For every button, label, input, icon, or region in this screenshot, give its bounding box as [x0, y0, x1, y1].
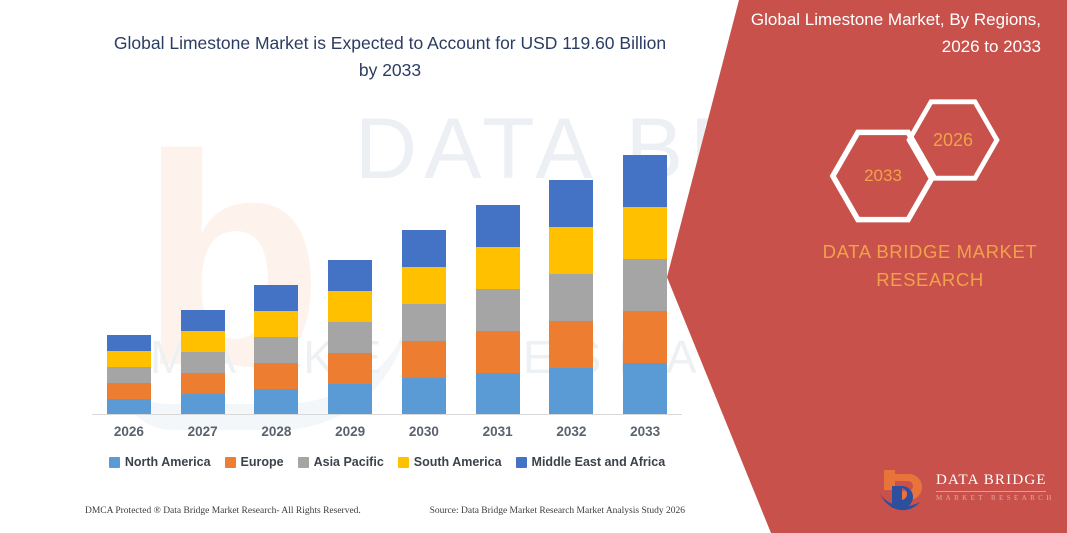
x-axis-label-2026: 2026: [94, 424, 164, 439]
bar-segment: [549, 274, 593, 321]
bar-segment: [181, 352, 225, 373]
x-axis-label-2030: 2030: [389, 424, 459, 439]
bar-segment: [402, 304, 446, 341]
legend-item-europe[interactable]: Europe: [225, 455, 284, 469]
panel-title: Global Limestone Market, By Regions, 202…: [721, 6, 1041, 60]
bar-2032: [549, 180, 593, 415]
bar-segment: [328, 353, 372, 384]
legend-swatch-icon: [298, 457, 309, 468]
bar-segment: [181, 310, 225, 331]
bar-segment: [623, 311, 667, 363]
legend-swatch-icon: [516, 457, 527, 468]
infographic-root: b DATA BRIDGE MARKET RESEARCH Global Lim…: [0, 0, 1067, 533]
chart-title: Global Limestone Market is Expected to A…: [110, 30, 670, 84]
bar-segment: [402, 378, 446, 415]
bar-segment: [402, 267, 446, 304]
bar-segment: [328, 384, 372, 415]
bar-segment: [107, 335, 151, 351]
x-axis-line: [92, 414, 682, 415]
legend-item-north-america[interactable]: North America: [109, 455, 211, 469]
legend-label: South America: [414, 455, 502, 469]
legend-item-middle-east-and-africa[interactable]: Middle East and Africa: [516, 455, 666, 469]
bar-segment: [107, 383, 151, 399]
bar-2033: [623, 155, 667, 415]
bar-2031: [476, 205, 520, 415]
bar-segment: [623, 207, 667, 259]
bar-2030: [402, 230, 446, 415]
legend-label: Europe: [241, 455, 284, 469]
bar-segment: [107, 399, 151, 415]
bar-segment: [549, 180, 593, 227]
bar-segment: [254, 311, 298, 337]
x-axis-label-2029: 2029: [315, 424, 385, 439]
legend-label: Asia Pacific: [314, 455, 384, 469]
bar-segment: [623, 155, 667, 207]
bar-2026: [107, 335, 151, 415]
chart-legend: North AmericaEuropeAsia PacificSouth Ame…: [92, 455, 682, 469]
bar-segment: [181, 331, 225, 352]
logo-divider: [936, 491, 1046, 492]
bar-segment: [476, 373, 520, 415]
legend-swatch-icon: [109, 457, 120, 468]
hexagon-2026-label: 2026: [933, 130, 973, 151]
x-axis-label-2027: 2027: [168, 424, 238, 439]
bar-segment: [476, 331, 520, 373]
bar-segment: [107, 367, 151, 383]
bar-2027: [181, 310, 225, 415]
legend-item-south-america[interactable]: South America: [398, 455, 502, 469]
bar-segment: [181, 394, 225, 415]
hexagon-2033-label: 2033: [864, 166, 902, 186]
x-axis-label-2028: 2028: [241, 424, 311, 439]
x-axis-label-2031: 2031: [463, 424, 533, 439]
bar-segment: [402, 341, 446, 378]
legend-swatch-icon: [225, 457, 236, 468]
bar-segment: [328, 291, 372, 322]
bar-segment: [328, 322, 372, 353]
bar-segment: [107, 351, 151, 367]
bar-segment: [549, 368, 593, 415]
bar-2028: [254, 285, 298, 415]
logo-b-mark-icon: [878, 466, 930, 512]
bar-segment: [623, 259, 667, 311]
bar-2029: [328, 260, 372, 415]
logo-text: DATA BRIDGE MARKET RESEARCH: [936, 472, 1048, 502]
x-axis-label-2032: 2032: [536, 424, 606, 439]
bar-segment: [328, 260, 372, 291]
footer-source-text: Source: Data Bridge Market Research Mark…: [430, 506, 685, 516]
bar-segment: [476, 205, 520, 247]
legend-label: Middle East and Africa: [532, 455, 666, 469]
bar-segment: [254, 337, 298, 363]
legend-item-asia-pacific[interactable]: Asia Pacific: [298, 455, 384, 469]
bar-segment: [254, 285, 298, 311]
bar-segment: [549, 321, 593, 368]
bar-segment: [549, 227, 593, 274]
footer: DMCA Protected ® Data Bridge Market Rese…: [85, 506, 685, 516]
bar-chart-plot: [92, 120, 682, 415]
bar-segment: [254, 389, 298, 415]
hexagon-2033: 2033: [828, 128, 938, 224]
bar-segment: [623, 363, 667, 415]
footer-dmca-text: DMCA Protected ® Data Bridge Market Rese…: [85, 506, 361, 516]
logo-sub-text: MARKET RESEARCH: [936, 494, 1048, 502]
data-bridge-logo: DATA BRIDGE MARKET RESEARCH: [878, 466, 1048, 512]
logo-main-text: DATA BRIDGE: [936, 472, 1048, 489]
x-axis-labels: 20262027202820292030203120322033: [92, 424, 682, 446]
legend-swatch-icon: [398, 457, 409, 468]
bar-segment: [254, 363, 298, 389]
bar-segment: [402, 230, 446, 267]
x-axis-label-2033: 2033: [610, 424, 680, 439]
legend-label: North America: [125, 455, 211, 469]
bar-segment: [476, 289, 520, 331]
bar-segment: [181, 373, 225, 394]
hexagon-group: 2026 2033: [810, 90, 1010, 210]
brand-title: DATA BRIDGE MARKET RESEARCH: [800, 238, 1060, 294]
bar-segment: [476, 247, 520, 289]
